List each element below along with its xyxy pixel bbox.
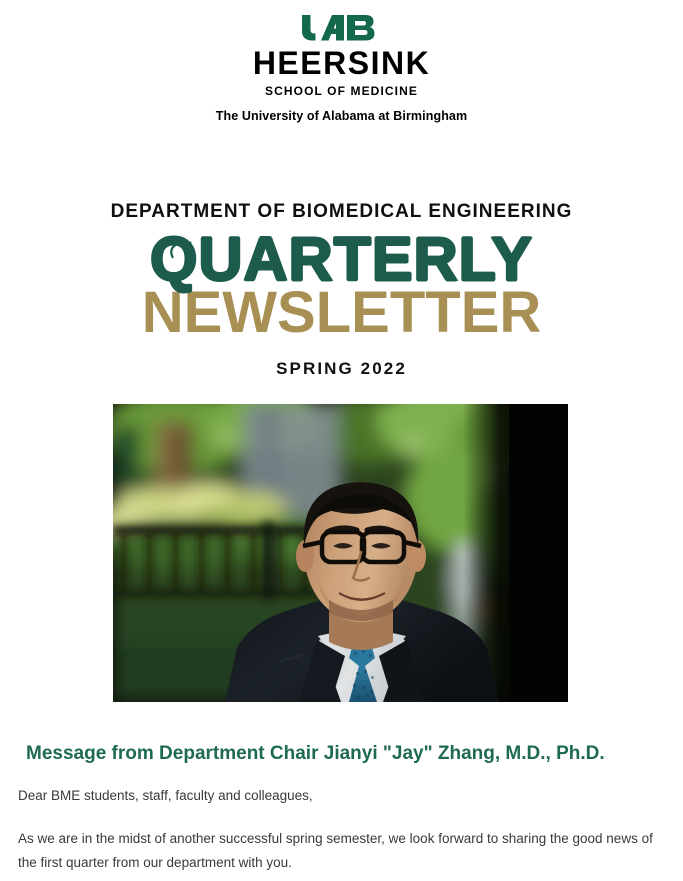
department-line: DEPARTMENT OF BIOMEDICAL ENGINEERING (0, 201, 683, 223)
quarterly-title-wrap: QUARTERLY (150, 223, 533, 290)
brand-subtitle: SCHOOL OF MEDICINE (0, 84, 683, 98)
newsletter-title-block: DEPARTMENT OF BIOMEDICAL ENGINEERING QUA… (0, 201, 683, 379)
department-chair-portrait (113, 404, 568, 702)
message-heading: Message from Department Chair Jianyi "Ja… (26, 742, 683, 767)
message-paragraph: As we are in the midst of another succes… (18, 827, 661, 875)
title-line-quarterly: QUARTERLY (150, 229, 533, 290)
uab-wordmark-logo-icon (299, 13, 385, 43)
brand-name: HEERSINK (0, 47, 683, 79)
season-label: SPRING 2022 (0, 359, 683, 379)
message-salutation: Dear BME students, staff, faculty and co… (18, 786, 683, 806)
chair-message-section: Message from Department Chair Jianyi "Ja… (0, 742, 683, 875)
university-name: The University of Alabama at Birmingham (0, 109, 683, 123)
masthead: HEERSINK SCHOOL OF MEDICINE The Universi… (0, 0, 683, 123)
